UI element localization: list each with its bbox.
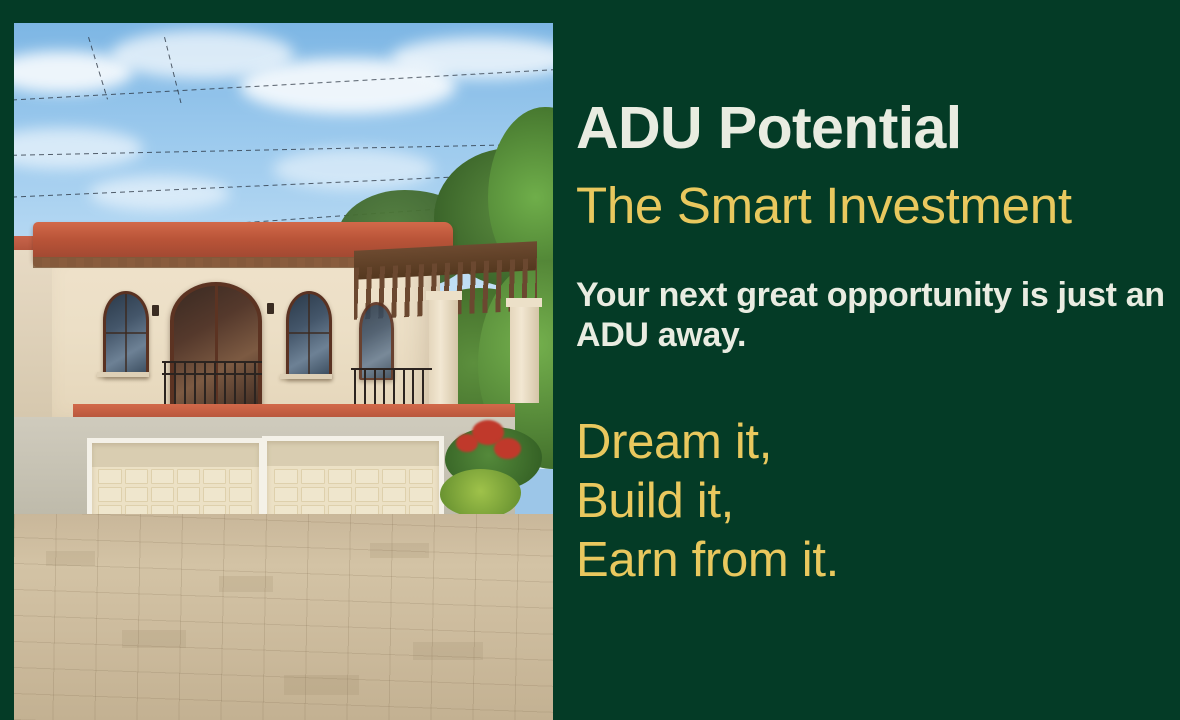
cloud — [89, 176, 229, 211]
property-photo — [14, 23, 553, 720]
subtitle: The Smart Investment — [576, 180, 1072, 232]
paver-tint — [219, 576, 273, 592]
window-sill — [97, 372, 149, 377]
property-photo-scene — [14, 23, 553, 720]
pergola-column — [429, 291, 458, 409]
garage-shadow — [92, 443, 259, 467]
wall-sconce — [152, 305, 159, 316]
tagline-line-3: Earn from it. — [576, 531, 839, 590]
window-sill — [280, 374, 332, 379]
adu-potential-slide: ADU Potential The Smart Investment Your … — [0, 0, 1180, 720]
cloud — [391, 37, 553, 79]
garage-panel-grid — [98, 469, 252, 519]
garage-panel-grid — [274, 469, 433, 520]
arched-window-right — [286, 291, 332, 378]
tagline-line-2: Build it, — [576, 472, 839, 531]
garage-shadow — [267, 441, 439, 466]
text-panel: ADU Potential The Smart Investment Your … — [565, 0, 1180, 720]
paver-tint — [370, 543, 429, 557]
paver-tint — [284, 675, 359, 696]
red-flowers — [494, 438, 521, 459]
arched-window-left — [103, 291, 149, 377]
wrought-iron-balcony-right — [351, 368, 432, 407]
paver-tint — [122, 630, 187, 649]
pergola-column — [510, 298, 539, 403]
wall-sconce — [267, 303, 274, 314]
paver-tint — [413, 642, 483, 661]
paver-driveway — [14, 514, 553, 720]
tagline-block: Dream it, Build it, Earn from it. — [576, 413, 839, 589]
tagline-line-1: Dream it, — [576, 413, 839, 472]
paver-tint — [46, 551, 95, 565]
page-title: ADU Potential — [576, 98, 962, 158]
shrub — [440, 469, 521, 518]
red-flowers — [456, 434, 478, 452]
body-text: Your next great opportunity is just an A… — [576, 275, 1180, 355]
